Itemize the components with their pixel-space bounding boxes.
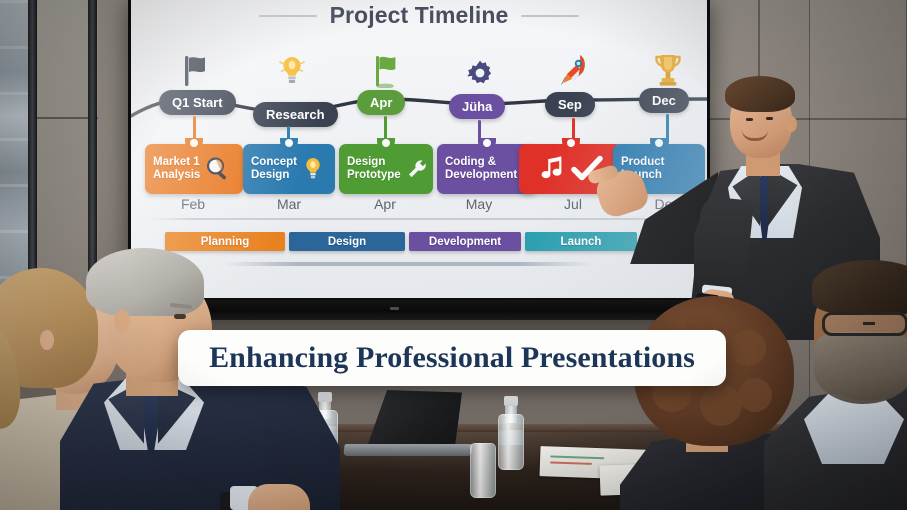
bottle-label xyxy=(498,430,524,445)
bottle-cap xyxy=(504,396,519,406)
man-clasped-hands xyxy=(248,484,310,510)
card-notch xyxy=(280,138,298,150)
notepad-line xyxy=(550,461,592,464)
magnifier-icon xyxy=(205,156,231,182)
music-note-icon xyxy=(540,155,566,183)
card-line1: Coding & xyxy=(445,156,517,170)
slide-title: Project Timeline xyxy=(330,2,509,29)
card-notch xyxy=(562,138,580,150)
banner-title-text: Enhancing Professional Presentations xyxy=(209,341,695,375)
gear-icon xyxy=(457,44,503,88)
title-rule-right xyxy=(521,15,579,17)
month-label-jul: Jul xyxy=(543,196,603,212)
milestone-pills-row: Q1 Start Research Apr Jüha Sep Dec xyxy=(131,88,707,128)
month-label-apr: Apr xyxy=(355,196,415,212)
card-line1: Market 1 xyxy=(153,156,200,170)
man-eye xyxy=(174,314,186,319)
slide-title-row: Project Timeline xyxy=(131,2,707,29)
milestone-pill-dec[interactable]: Dec xyxy=(639,88,689,113)
card-line2: Prototype xyxy=(347,169,401,183)
laptop-keyboard-base xyxy=(343,444,472,456)
month-label-may: May xyxy=(449,196,509,212)
lightbulb-icon xyxy=(302,156,324,182)
task-card-design-prototype[interactable]: Design Prototype xyxy=(339,144,433,194)
hair-curl xyxy=(700,384,742,426)
rocket-icon xyxy=(551,44,597,88)
hair-curl xyxy=(730,330,766,366)
presenter-hair xyxy=(725,76,795,112)
card-notch xyxy=(650,138,668,150)
milestone-pill-apr[interactable]: Apr xyxy=(357,90,405,115)
presenter-ear xyxy=(786,116,797,132)
card-notch xyxy=(377,138,395,150)
flag-dark-icon xyxy=(173,44,219,88)
water-glass xyxy=(470,438,496,498)
task-card-concept-design[interactable]: Concept Design xyxy=(243,144,335,194)
card-notch xyxy=(478,138,496,150)
card-line2: Development xyxy=(445,169,517,183)
month-label-feb: Feb xyxy=(163,196,223,212)
phase-bar-launch[interactable]: Launch xyxy=(525,232,637,251)
title-rule-left xyxy=(259,15,317,17)
man-ear xyxy=(114,310,130,332)
woman-ear xyxy=(40,330,54,350)
month-label-mar: Mar xyxy=(259,196,319,212)
hair-curl xyxy=(738,378,772,412)
milestone-pill-juha[interactable]: Jüha xyxy=(449,94,505,119)
eyeglasses-icon xyxy=(822,312,907,336)
card-line1: Design xyxy=(347,156,401,170)
presenter-eye-right xyxy=(766,117,773,120)
card-line2: Design xyxy=(251,169,297,183)
card-notch xyxy=(185,138,203,150)
title-banner: Enhancing Professional Presentations xyxy=(178,330,726,386)
card-line1: Product xyxy=(621,156,664,170)
milestone-pill-q1-start[interactable]: Q1 Start xyxy=(159,90,236,115)
flag-green-icon xyxy=(363,44,409,88)
bottle-neck xyxy=(505,403,516,422)
notepad-line xyxy=(550,455,604,459)
phase-bar-development[interactable]: Development xyxy=(409,232,521,251)
water-bottle xyxy=(498,396,524,470)
wrench-icon xyxy=(406,158,428,180)
milestone-pill-sep[interactable]: Sep xyxy=(545,92,595,117)
card-line2: Analysis xyxy=(153,169,200,183)
meeting-room-scene: Project Timeline xyxy=(0,0,907,510)
milestone-pill-research[interactable]: Research xyxy=(253,102,338,127)
milestone-icons-row xyxy=(131,44,707,88)
glass-body xyxy=(470,443,496,498)
man2-beard xyxy=(814,332,907,404)
card-line1: Concept xyxy=(251,156,297,170)
man2-hair xyxy=(812,260,907,314)
presenter-eye-left xyxy=(746,118,753,121)
audience-bearded-man xyxy=(800,260,907,510)
lightbulb-icon xyxy=(269,44,315,88)
screen-indicator-led xyxy=(390,307,399,310)
timeline-axis xyxy=(149,218,689,220)
trophy-icon xyxy=(645,44,691,88)
task-card-market-analysis[interactable]: Market 1 Analysis xyxy=(145,144,243,194)
